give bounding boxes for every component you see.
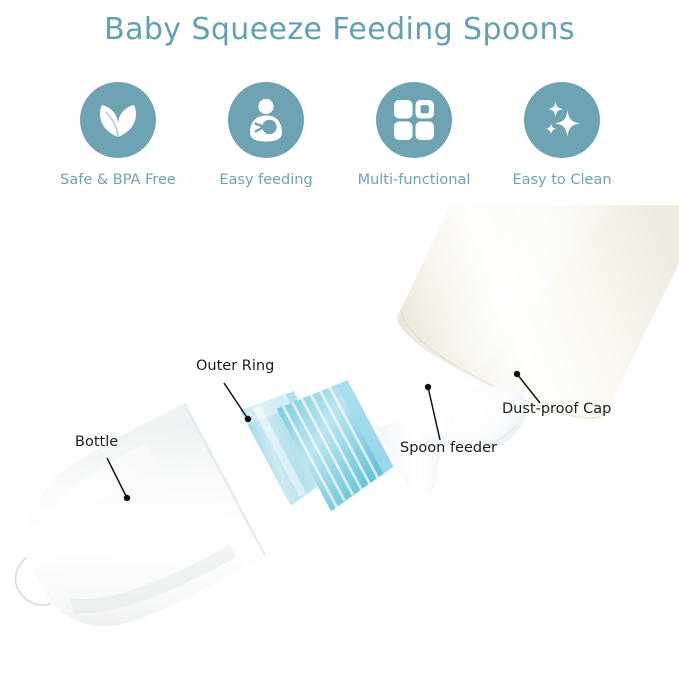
callout-label-spoon-feeder: Spoon feeder [400, 440, 497, 456]
badge-circle [524, 82, 600, 158]
feature-label: Multi-functional [358, 172, 471, 188]
feature-safe-bpa-free: Safe & BPA Free [44, 82, 192, 188]
badge-circle [376, 82, 452, 158]
leader-line-spoon-feeder [428, 387, 440, 440]
feature-multi-functional: Multi-functional [340, 82, 488, 188]
part-bottle [0, 403, 266, 666]
mother-nursing-baby-icon [244, 97, 288, 143]
feature-badge-row: Safe & BPA Free Easy feeding [44, 82, 636, 202]
infographic-page: Baby Squeeze Feeding Spoons Safe & BPA F… [0, 0, 679, 679]
callout-label-outer-ring: Outer Ring [196, 358, 274, 374]
four-rounded-squares-grid-icon [391, 97, 437, 143]
badge-circle [228, 82, 304, 158]
sparkles-icon [539, 97, 585, 143]
badge-circle [80, 82, 156, 158]
feature-easy-feeding: Easy feeding [192, 82, 340, 188]
page-title: Baby Squeeze Feeding Spoons [0, 12, 679, 47]
leader-dot-spoon-feeder [425, 384, 431, 390]
feature-label: Easy to Clean [512, 172, 611, 188]
callout-label-bottle: Bottle [75, 434, 118, 450]
feature-easy-to-clean: Easy to Clean [488, 82, 636, 188]
two-leaves-icon [95, 97, 141, 143]
feature-label: Easy feeding [219, 172, 312, 188]
callout-label-dust-proof-cap: Dust-proof Cap [502, 401, 611, 417]
feature-label: Safe & BPA Free [60, 172, 176, 188]
